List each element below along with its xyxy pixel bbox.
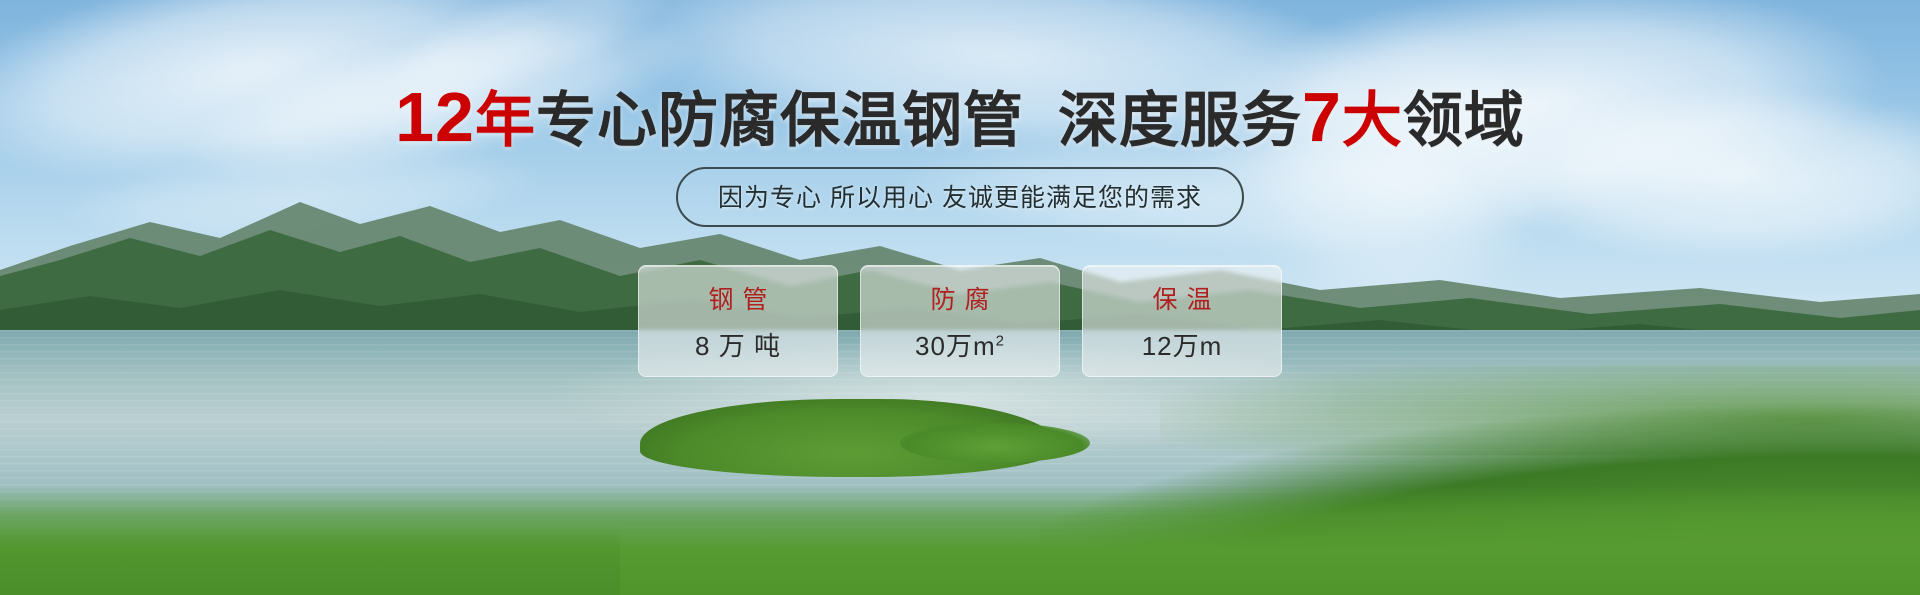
subtitle-pill: 因为专心 所以用心 友诚更能满足您的需求	[676, 167, 1244, 227]
stat-card-value: 8 万 吨	[695, 326, 781, 363]
page-title: 12年专心防腐保温钢管深度服务7大领域	[0, 82, 1920, 152]
stat-card-value: 12万m	[1142, 326, 1223, 363]
stat-card-label: 防腐	[921, 280, 998, 316]
headline-years-unit: 年	[475, 87, 536, 154]
stat-card-steel-pipe[interactable]: 钢管 8 万 吨	[638, 265, 838, 377]
stat-card-group: 钢管 8 万 吨 防腐 30万m2 保温 12万m	[0, 265, 1920, 377]
stat-card-value-text: 8 万 吨	[695, 331, 781, 361]
headline-service-text: 深度服务	[1058, 87, 1302, 154]
headline-fields-number: 7	[1302, 78, 1342, 156]
stat-card-anticorrosion[interactable]: 防腐 30万m2	[860, 265, 1060, 377]
stat-card-value: 30万m2	[915, 326, 1005, 363]
stat-card-value-text: 30万m	[915, 331, 996, 361]
stat-card-label: 钢管	[699, 280, 776, 316]
hero-banner: 12年专心防腐保温钢管深度服务7大领域 因为专心 所以用心 友诚更能满足您的需求…	[0, 0, 1920, 595]
headline-fields-unit: 大	[1342, 87, 1403, 154]
grass-foreground-left	[0, 525, 620, 595]
stat-card-label: 保温	[1143, 280, 1220, 316]
headline-fields-text: 领域	[1403, 87, 1525, 154]
headline-main-text: 专心防腐保温钢管	[536, 87, 1024, 154]
stat-card-value-sup: 2	[996, 332, 1005, 349]
subtitle-container: 因为专心 所以用心 友诚更能满足您的需求	[0, 167, 1920, 227]
stat-card-value-text: 12万m	[1142, 331, 1223, 361]
stat-card-insulation[interactable]: 保温 12万m	[1082, 265, 1282, 377]
headline-years-number: 12	[395, 78, 475, 156]
